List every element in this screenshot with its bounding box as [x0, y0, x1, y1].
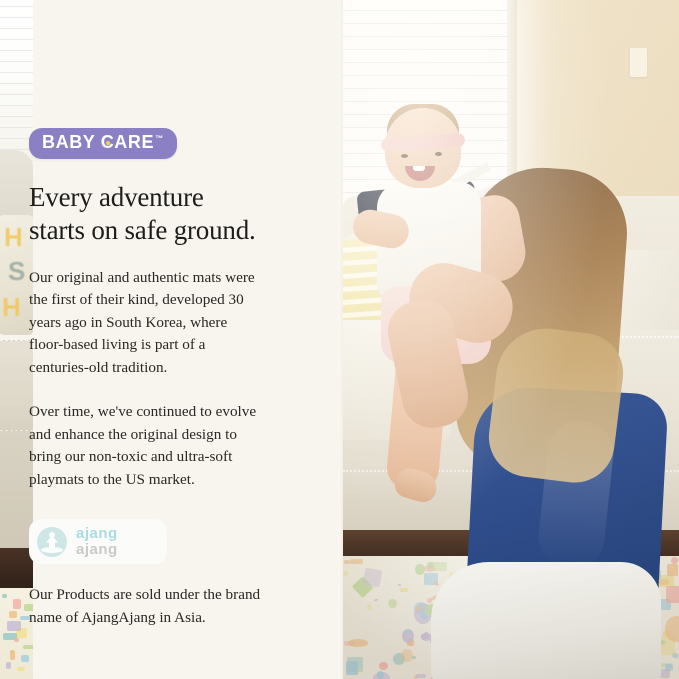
headline-line-1: Every adventure — [29, 182, 204, 212]
paragraph-origin-story: Our original and authentic mats were the… — [29, 267, 261, 380]
ajang-word-top: ajang — [76, 526, 118, 541]
window-blind-slat — [343, 49, 509, 50]
ajangajang-logo: ajang ajang — [29, 519, 167, 564]
window-blind-slat — [343, 23, 509, 24]
window-blind-slat — [343, 62, 509, 63]
main-lifestyle-photo — [343, 0, 679, 679]
baby-eye — [435, 152, 442, 156]
window-blind-slat — [343, 88, 509, 89]
page-headline: Every adventure starts on safe ground. — [29, 181, 297, 247]
playmat-motif — [14, 638, 19, 642]
headline-line-2: starts on safe ground. — [29, 215, 256, 245]
playmat-motif — [7, 621, 21, 631]
panel-content: BABY CARE™ Every adventure starts on saf… — [29, 0, 289, 645]
baby-care-logo-badge: BABY CARE™ — [29, 128, 177, 159]
cushion-letter: H — [2, 292, 21, 323]
trademark-symbol: ™ — [155, 134, 164, 143]
playmat-motif — [17, 667, 25, 671]
woman-hair-strands — [484, 323, 627, 487]
baby-eye — [401, 154, 408, 158]
badge-letter-c: C — [101, 133, 115, 151]
badge-suffix: ARE — [114, 132, 154, 152]
window-blind-slat — [343, 101, 509, 102]
ajang-word-bottom: ajang — [76, 542, 118, 557]
woman-white-pants — [431, 562, 661, 679]
window-blind-slat — [343, 75, 509, 76]
window-blind-slat — [343, 10, 509, 11]
playmat-motif — [13, 599, 21, 609]
figure-base-icon — [41, 547, 63, 553]
playmat-motif — [9, 611, 17, 618]
playmat-motif — [10, 650, 15, 660]
cushion-letter: H — [4, 222, 23, 253]
ajangajang-wordmark: ajang ajang — [76, 526, 118, 557]
paragraph-evolution: Over time, we've continued to evolve and… — [29, 401, 261, 491]
child-figure-icon — [37, 527, 67, 557]
badge-prefix: BABY — [42, 132, 101, 152]
product-lifestyle-image: H S H BABY CARE™ Every adventure starts … — [0, 0, 679, 679]
playmat-motif — [6, 662, 11, 669]
figure-head-icon — [49, 532, 55, 538]
badge-dot-icon — [106, 141, 110, 145]
baby-tooth — [413, 166, 425, 171]
cushion-letter: S — [8, 256, 25, 287]
playmat-motif — [21, 655, 29, 662]
playmat-motif — [2, 594, 7, 598]
paragraph-brand-note: Our Products are sold under the brand na… — [29, 584, 279, 629]
wall-switch-plate — [630, 48, 647, 77]
baby-care-wordmark: BABY CARE™ — [42, 133, 164, 151]
playmat-motif — [23, 645, 33, 649]
window-blind-slat — [343, 36, 509, 37]
